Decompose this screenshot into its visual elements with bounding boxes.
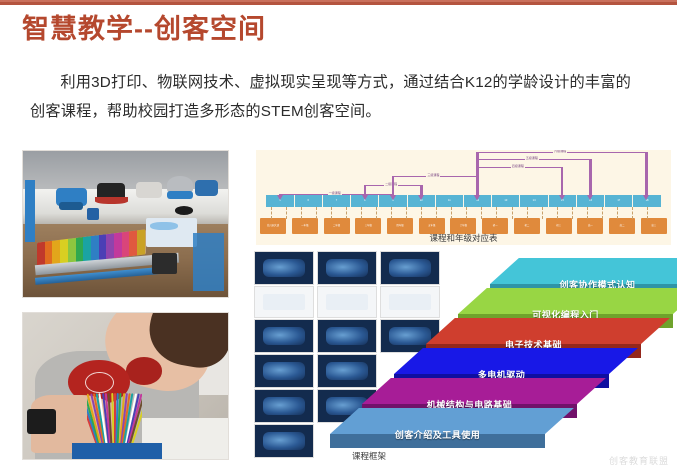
course-span-label: 四级课程 xyxy=(511,164,525,168)
tick-mark xyxy=(436,207,437,219)
course-span-label: 五级课程 xyxy=(525,156,539,160)
course-thumbnail xyxy=(254,424,314,458)
wrist-watch xyxy=(27,409,56,434)
tick-mark xyxy=(271,207,272,219)
robot-kit-1 xyxy=(56,188,87,207)
course-thumbnail xyxy=(254,286,314,318)
course-thumbnail xyxy=(254,251,314,285)
course-span-arrow xyxy=(645,152,648,196)
tick-mark xyxy=(361,207,362,219)
chart-caption: 课程和年级对应表 xyxy=(256,232,671,244)
course-grade-chart: 56789101112131415161718 幼儿园大班一年级二年级三年级四年… xyxy=(256,150,671,245)
age-cell: 7 xyxy=(323,195,351,207)
age-cell: 13 xyxy=(492,195,520,207)
tick-mark xyxy=(542,207,543,219)
photo-blue-beam xyxy=(25,180,35,241)
top-accent-bar xyxy=(0,0,677,5)
blue-structure xyxy=(193,233,224,291)
robot-kit-4 xyxy=(167,176,194,194)
kit-box xyxy=(146,218,197,247)
robot-kit-5 xyxy=(195,180,218,196)
course-span-arrow xyxy=(392,176,395,196)
tick-mark xyxy=(557,207,558,219)
tick-mark xyxy=(496,207,497,219)
tick-mark xyxy=(512,207,513,219)
step-label: 创客介绍及工具使用 xyxy=(338,428,537,441)
age-axis: 56789101112131415161718 xyxy=(266,195,660,207)
blue-cup xyxy=(87,208,99,220)
slide-canvas: 智慧教学--创客空间 利用3D打印、物联网技术、虚拟现实呈现等方式，通过结合K1… xyxy=(0,0,677,467)
course-framework-staircase: 创客协作模式认知可视化编程入门电子技术基础多电机驱动机械结构与电路基础创客介绍及… xyxy=(330,258,677,458)
stepper-motor xyxy=(152,253,177,273)
tick-mark xyxy=(376,207,377,219)
shirt-graphic-ball xyxy=(126,357,163,385)
page-title: 智慧教学--创客空间 xyxy=(22,12,266,46)
tick-mark xyxy=(331,207,332,219)
jumper-wires xyxy=(87,393,142,446)
robot-kit-2 xyxy=(97,183,126,201)
tick-mark xyxy=(587,207,588,219)
tick-mark xyxy=(647,207,648,219)
age-cell: 14 xyxy=(520,195,548,207)
tick-mark xyxy=(406,207,407,219)
photo-robotics-kits xyxy=(23,151,228,297)
tick-mark xyxy=(617,207,618,219)
tick-mark xyxy=(301,207,302,219)
xylophone-bar xyxy=(137,229,145,255)
robot-kit-3 xyxy=(136,182,163,198)
course-span-arrow xyxy=(589,159,592,196)
course-span-arrow xyxy=(279,194,282,196)
tick-mark xyxy=(316,207,317,219)
framework-step: 创客介绍及工具使用 xyxy=(330,408,545,444)
tick-mark xyxy=(632,207,633,219)
chart-plot-area xyxy=(256,150,671,224)
photo-student-wiring xyxy=(23,313,228,459)
course-span-label: 一级课程 xyxy=(328,191,342,195)
course-thumbnail xyxy=(254,354,314,388)
age-cell: 6 xyxy=(295,195,323,207)
tick-mark xyxy=(572,207,573,219)
tick-mark xyxy=(481,207,482,219)
tick-mark xyxy=(286,207,287,219)
course-span-arrow xyxy=(561,167,564,196)
course-span-label: 六级课程 xyxy=(553,150,567,153)
tick-mark xyxy=(451,207,452,219)
course-thumbnail xyxy=(254,389,314,423)
course-span-arrow xyxy=(364,185,367,196)
tick-mark xyxy=(421,207,422,219)
body-paragraph: 利用3D打印、物联网技术、虚拟现实呈现等方式，通过结合K12的学龄设计的丰富的创… xyxy=(30,68,635,126)
course-thumbnail xyxy=(254,319,314,353)
tick-mark xyxy=(466,207,467,219)
course-span-arrow xyxy=(420,185,423,196)
age-cell: 11 xyxy=(436,195,464,207)
tick-mark xyxy=(602,207,603,219)
tick-mark xyxy=(527,207,528,219)
framework-caption: 课程框架 xyxy=(352,450,386,462)
watermark: 创客教育联盟 xyxy=(609,454,669,467)
top-accent-highlight xyxy=(0,0,677,2)
thumbnail-row xyxy=(254,424,314,458)
tick-mark xyxy=(391,207,392,219)
course-span-arrow xyxy=(476,152,479,196)
tick-mark xyxy=(346,207,347,219)
age-cell: 17 xyxy=(605,195,633,207)
circuit-board xyxy=(72,443,162,459)
course-span-label: 三级课程 xyxy=(426,173,440,177)
